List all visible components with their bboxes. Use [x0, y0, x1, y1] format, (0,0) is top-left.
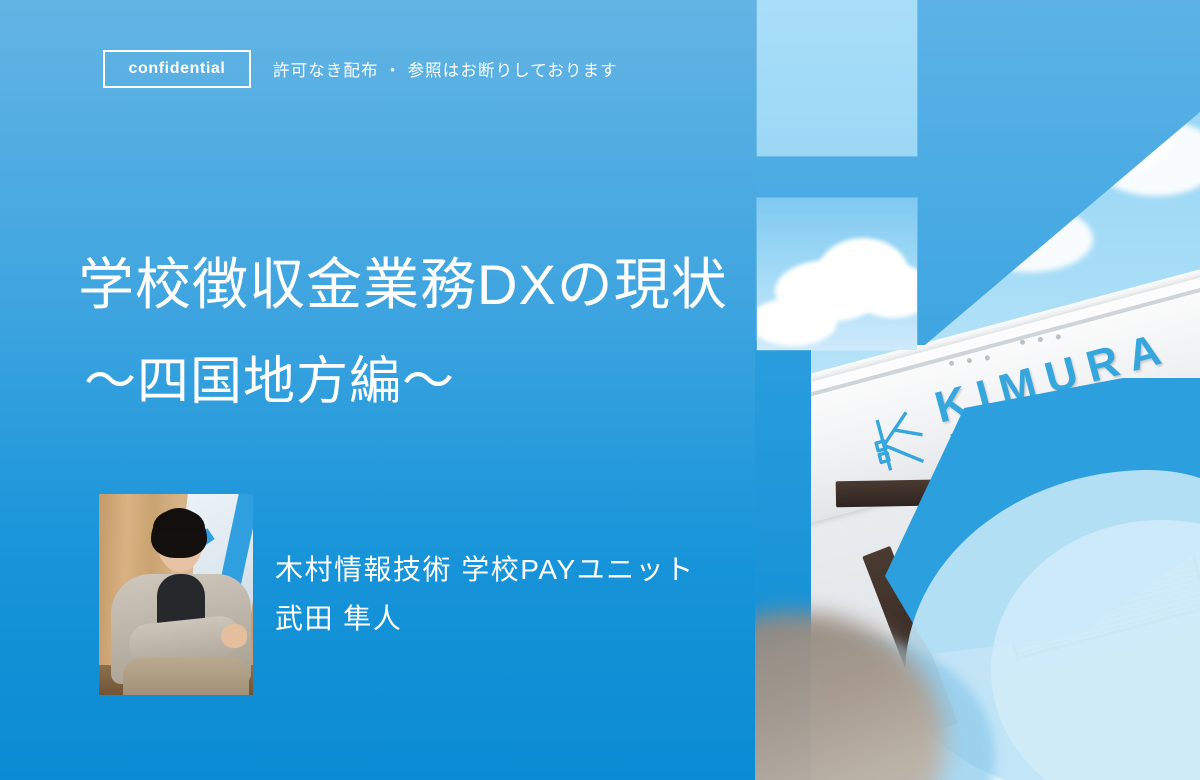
presenter-organization: 木村情報技術 学校PAYユニット — [275, 550, 695, 591]
distribution-notice: 許可なき配布 ・ 参照はお断りしております — [273, 57, 618, 81]
presenter-details: 木村情報技術 学校PAYユニット 武田 隼人 — [275, 550, 695, 639]
building-photo: KIMURA INFORMATION TECHNOLOGY — [755, 0, 1200, 780]
portrait-fringe — [153, 510, 205, 533]
slide-header: confidential 許可なき配布 ・ 参照はお断りしております — [103, 50, 618, 88]
portrait-trousers — [123, 658, 249, 695]
sky-cutout-square-top — [757, 0, 917, 156]
sky-cutout-square-bottom — [757, 198, 917, 350]
confidential-badge-label: confidential — [129, 60, 226, 78]
title-main-line: 学校徴収金業務DXの現状 — [78, 252, 728, 318]
presenter-block: 木村情報技術 学校PAYユニット 武田 隼人 — [99, 494, 695, 695]
presenter-name: 武田 隼人 — [275, 599, 695, 640]
kimura-k-logo-icon — [865, 399, 940, 478]
title-sub-line: 〜四国地方編〜 — [84, 352, 728, 413]
slide-title: 学校徴収金業務DXの現状 〜四国地方編〜 — [78, 252, 728, 413]
presenter-photo — [99, 494, 253, 695]
portrait-hand — [221, 624, 247, 648]
confidential-badge: confidential — [103, 50, 251, 88]
title-slide: KIMURA INFORMATION TECHNOLOGY confidenti… — [0, 0, 1200, 780]
